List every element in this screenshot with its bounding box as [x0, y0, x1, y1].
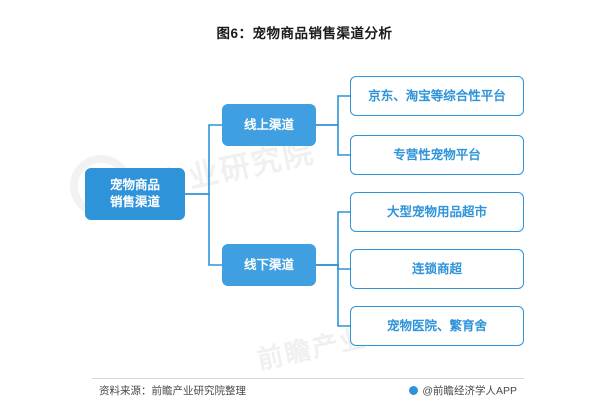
brand-logo-icon [409, 386, 418, 395]
node-offline-hospital-breeding-label: 宠物医院、繁育舍 [387, 318, 487, 335]
node-offline-chain-store[interactable]: 连锁商超 [350, 249, 524, 289]
node-online-comprehensive-platform[interactable]: 京东、淘宝等综合性平台 [350, 76, 524, 116]
node-offline-chain-store-label: 连锁商超 [412, 261, 462, 278]
chart-title: 图6：宠物商品销售渠道分析 [0, 22, 609, 42]
node-offline-supermarket-label: 大型宠物用品超市 [387, 204, 487, 221]
node-online-channel-label: 线上渠道 [244, 117, 294, 134]
footer-divider [92, 378, 524, 379]
source-note: 资料来源：前瞻产业研究院整理 [99, 383, 246, 398]
node-root[interactable]: 宠物商品 销售渠道 [85, 168, 185, 220]
node-offline-hospital-breeding[interactable]: 宠物医院、繁育舍 [350, 306, 524, 346]
node-online-specialized-platform-label: 专营性宠物平台 [393, 147, 481, 164]
brand-credit: @前瞻经济学人APP [409, 383, 517, 398]
node-root-label: 宠物商品 销售渠道 [110, 177, 160, 211]
node-offline-supermarket[interactable]: 大型宠物用品超市 [350, 192, 524, 232]
node-online-channel[interactable]: 线上渠道 [222, 104, 316, 146]
node-online-comprehensive-platform-label: 京东、淘宝等综合性平台 [368, 88, 506, 105]
brand-credit-label: @前瞻经济学人APP [422, 383, 517, 398]
diagram-page: 前瞻产业研究院 前瞻产业研究院 图6：宠物商品销售渠道分析 宠物商品 销售渠道 … [0, 0, 609, 419]
node-online-specialized-platform[interactable]: 专营性宠物平台 [350, 135, 524, 175]
node-offline-channel[interactable]: 线下渠道 [222, 244, 316, 286]
node-offline-channel-label: 线下渠道 [244, 257, 294, 274]
